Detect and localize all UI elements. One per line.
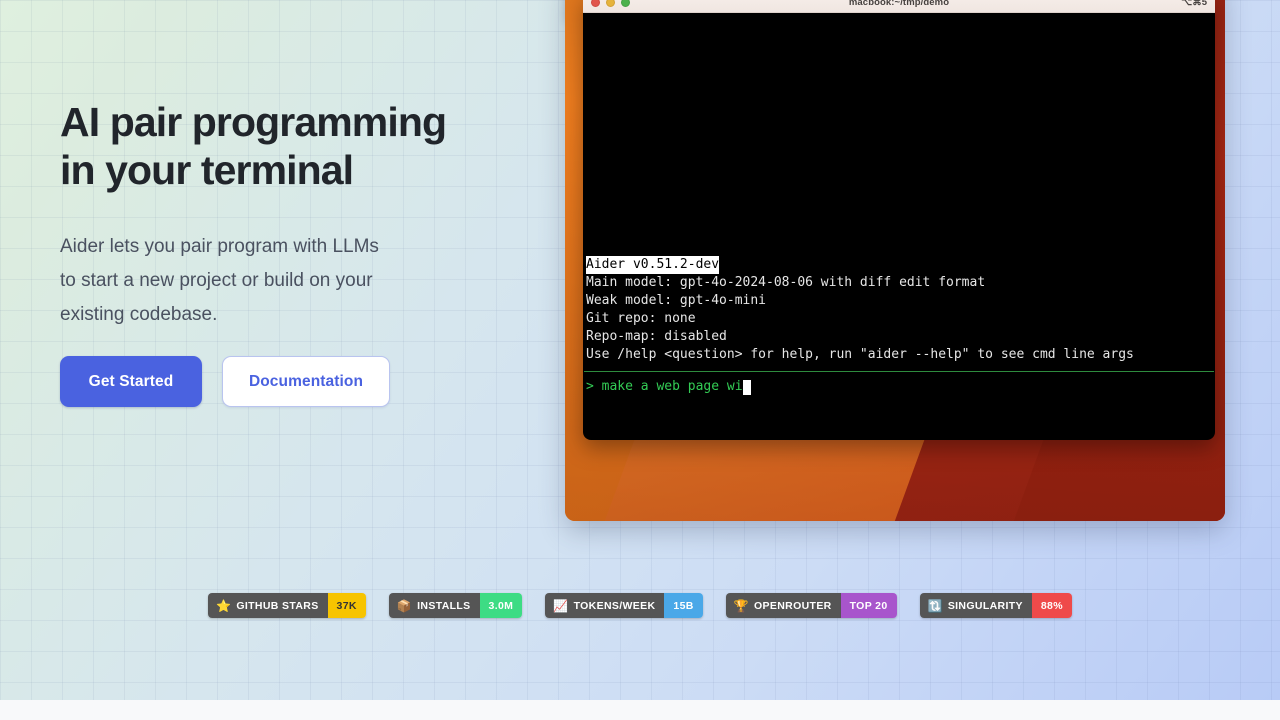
refresh-arrows-icon: 🔃 [928,600,943,612]
badge-label: SINGULARITY [948,600,1023,612]
badge-label-group: 🔃 SINGULARITY [920,593,1032,618]
chart-icon: 📈 [553,600,568,612]
badge-tokens-per-week[interactable]: 📈 TOKENS/WEEK 15B [545,593,702,618]
badge-value: 37K [328,593,366,618]
aider-version-banner: Aider v0.51.2-dev [586,256,719,274]
terminal-shortcut-hint: ⌥⌘5 [1181,0,1207,8]
prompt-input-text[interactable]: make a web page wi [602,378,743,396]
badge-label-group: 🏆 OPENROUTER [726,593,841,618]
hero-section: AI pair programming in your terminal Aid… [0,0,1280,700]
terminal-separator-rule [584,371,1214,372]
terminal-line: Aider v0.51.2-dev [586,256,1206,274]
desktop-wallpaper: macbook:~/tmp/demo ⌥⌘5 Aider v0.51.2-dev… [565,0,1225,521]
badge-label: OPENROUTER [754,600,832,612]
stats-badge-row: ⭐ GITHUB STARS 37K 📦 INSTALLS 3.0M 📈 TOK… [0,593,1280,618]
badge-openrouter[interactable]: 🏆 OPENROUTER TOP 20 [726,593,897,618]
page-title: AI pair programming in your terminal [60,98,530,194]
documentation-button[interactable]: Documentation [222,356,390,407]
terminal-prompt-line[interactable]: > make a web page wi [586,378,751,396]
terminal-mockup: macbook:~/tmp/demo ⌥⌘5 Aider v0.51.2-dev… [560,0,1280,560]
prompt-symbol: > [586,378,594,396]
badge-value: 88% [1032,593,1072,618]
terminal-line: Use /help <question> for help, run "aide… [586,346,1206,364]
badge-label: GITHUB STARS [236,600,318,612]
terminal-line: Main model: gpt-4o-2024-08-06 with diff … [586,274,1206,292]
terminal-line: Git repo: none [586,310,1206,328]
package-icon: 📦 [397,600,412,612]
text-cursor [743,380,751,395]
star-icon: ⭐ [216,600,231,612]
terminal-line: Weak model: gpt-4o-mini [586,292,1206,310]
cta-button-row: Get Started Documentation [60,356,390,407]
get-started-button[interactable]: Get Started [60,356,202,407]
badge-singularity[interactable]: 🔃 SINGULARITY 88% [920,593,1072,618]
hero-copy: AI pair programming in your terminal Aid… [60,98,530,332]
badge-label-group: ⭐ GITHUB STARS [208,593,327,618]
badge-installs[interactable]: 📦 INSTALLS 3.0M [389,593,522,618]
terminal-output: Aider v0.51.2-dev Main model: gpt-4o-202… [586,256,1206,364]
terminal-line: Repo-map: disabled [586,328,1206,346]
badge-value: 3.0M [480,593,523,618]
badge-github-stars[interactable]: ⭐ GITHUB STARS 37K [208,593,366,618]
trophy-icon: 🏆 [734,600,749,612]
terminal-title: macbook:~/tmp/demo [583,0,1215,8]
hero-subheading: Aider lets you pair program with LLMs to… [60,230,530,332]
terminal-body[interactable]: Aider v0.51.2-dev Main model: gpt-4o-202… [583,13,1215,440]
page-footer-strip [0,700,1280,720]
badge-value: TOP 20 [841,593,897,618]
badge-label-group: 📈 TOKENS/WEEK [545,593,664,618]
badge-label: TOKENS/WEEK [574,600,656,612]
badge-label-group: 📦 INSTALLS [389,593,480,618]
badge-value: 15B [664,593,702,618]
badge-label: INSTALLS [417,600,470,612]
terminal-window: macbook:~/tmp/demo ⌥⌘5 Aider v0.51.2-dev… [583,0,1215,440]
terminal-titlebar[interactable]: macbook:~/tmp/demo ⌥⌘5 [583,0,1215,13]
